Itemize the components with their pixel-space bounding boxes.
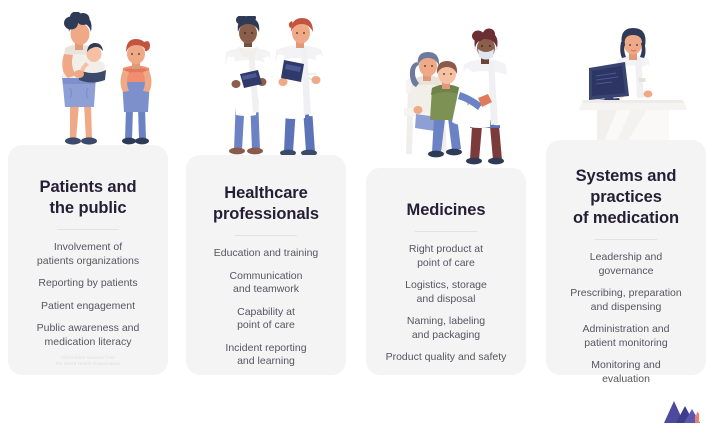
source-footnote: Information sourced from the World Healt…: [8, 355, 168, 367]
list-item: Prescribing, preparation and dispensing: [554, 287, 698, 314]
list-item: Public awareness and medication literacy: [16, 322, 160, 349]
card-title-healthcare-professionals: Healthcare professionals: [194, 155, 338, 225]
title-divider: [415, 231, 477, 232]
bullet-list-systems-and-practices: Leadership and governance Prescribing, p…: [554, 251, 698, 386]
list-item: Communication and teamwork: [194, 270, 338, 297]
title-divider: [57, 229, 119, 230]
mountain-chart-logo[interactable]: [662, 397, 708, 427]
list-item: Patient engagement: [16, 300, 160, 314]
card-healthcare-professionals[interactable]: Healthcare professionals Education and t…: [186, 155, 346, 375]
card-title-medicines: Medicines: [374, 168, 518, 221]
list-item: Right product at point of care: [374, 243, 518, 270]
list-item: Naming, labeling and packaging: [374, 315, 518, 342]
infographic-canvas: Patients and the public Involvement of p…: [0, 0, 720, 439]
card-patients-and-the-public[interactable]: Patients and the public Involvement of p…: [8, 145, 168, 375]
card-title-systems-and-practices: Systems and practices of medication: [554, 140, 698, 229]
card-medicines[interactable]: Medicines Right product at point of care…: [366, 168, 526, 375]
title-divider: [595, 239, 657, 240]
list-item: Capability at point of care: [194, 306, 338, 333]
list-item: Involvement of patients organizations: [16, 241, 160, 268]
list-item: Leadership and governance: [554, 251, 698, 278]
bullet-list-patients: Involvement of patients organizations Re…: [16, 241, 160, 349]
list-item: Monitoring and evaluation: [554, 359, 698, 386]
list-item: Product quality and safety: [374, 351, 518, 365]
bullet-list-healthcare-professionals: Education and training Communication and…: [194, 247, 338, 369]
card-title-patients: Patients and the public: [16, 145, 160, 219]
list-item: Reporting by patients: [16, 277, 160, 291]
card-systems-and-practices-of-medication[interactable]: Systems and practices of medication Lead…: [546, 140, 706, 375]
list-item: Incident reporting and learning: [194, 342, 338, 369]
list-item: Education and training: [194, 247, 338, 261]
list-item: Administration and patient monitoring: [554, 323, 698, 350]
list-item: Logistics, storage and disposal: [374, 279, 518, 306]
bullet-list-medicines: Right product at point of care Logistics…: [374, 243, 518, 365]
title-divider: [235, 235, 297, 236]
